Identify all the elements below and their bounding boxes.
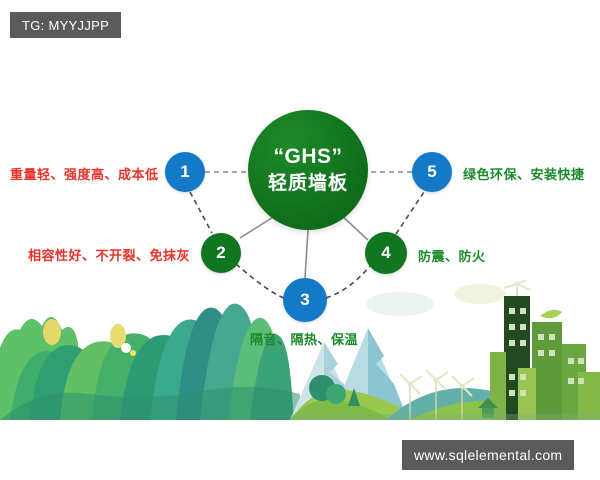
watermark-top-left: TG: MYYJJPP [10,12,121,38]
node-5-number: 5 [427,162,436,182]
watermark-bottom-right: www.sqlelemental.com [402,440,574,470]
center-title: “GHS” [273,144,342,170]
node-5-label: 绿色环保、安装快捷 [463,164,585,183]
node-1-number: 1 [180,162,189,182]
node-4-label: 防震、防火 [418,246,486,265]
slide-canvas: “GHS” 轻质墙板 1 重量轻、强度高、成本低 2 相容性好、不开裂、免抹灰 … [0,0,600,480]
center-node[interactable]: “GHS” 轻质墙板 [248,110,368,230]
center-subtitle: 轻质墙板 [268,172,348,196]
node-2-label: 相容性好、不开裂、免抹灰 [28,245,190,264]
node-4[interactable]: 4 [365,232,407,274]
node-2-number: 2 [216,243,225,263]
node-1[interactable]: 1 [165,152,205,192]
node-5[interactable]: 5 [412,152,452,192]
node-3-number: 3 [300,290,309,310]
node-3[interactable]: 3 [283,278,327,322]
node-3-label: 隔音、隔热、保温 [250,329,358,348]
feature-diagram: “GHS” 轻质墙板 1 重量轻、强度高、成本低 2 相容性好、不开裂、免抹灰 … [0,0,600,480]
connector-lines [0,0,600,480]
node-4-number: 4 [381,243,390,263]
node-2[interactable]: 2 [201,233,241,273]
node-1-label: 重量轻、强度高、成本低 [10,164,159,183]
